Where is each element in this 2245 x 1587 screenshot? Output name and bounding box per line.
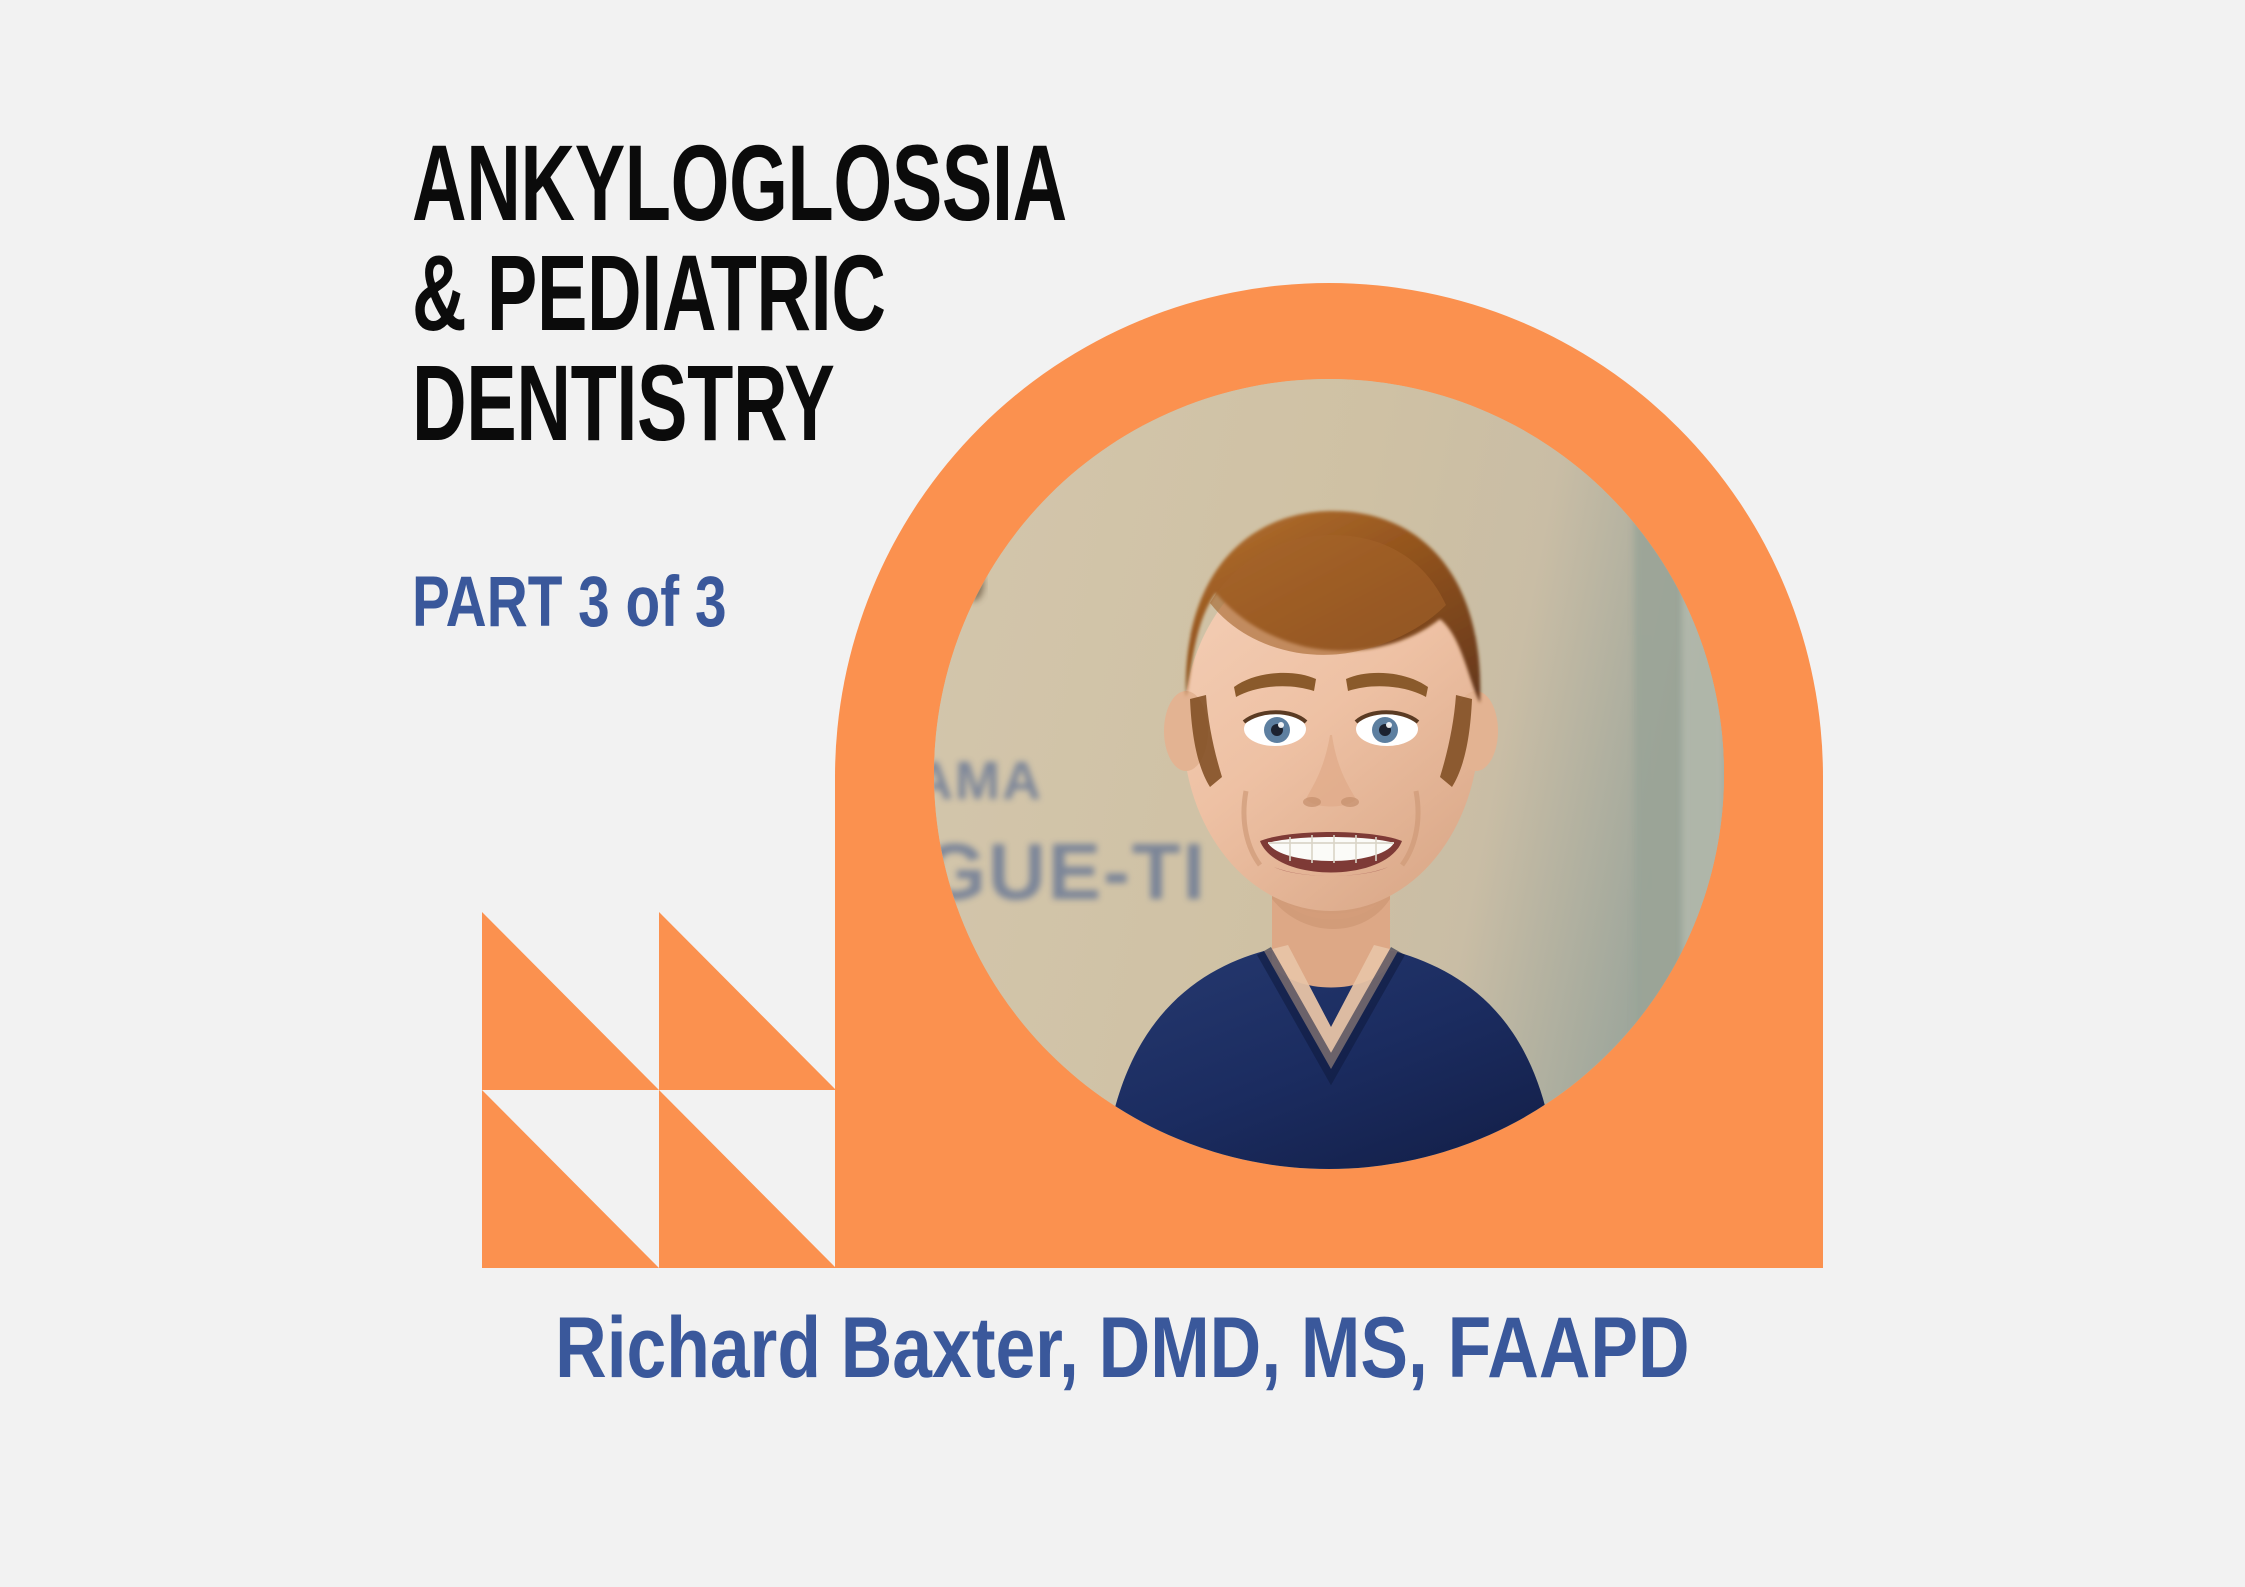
avatar: AMA NGUE-TI TR	[934, 379, 1724, 1169]
svg-text:AMA: AMA	[934, 751, 1043, 811]
triangle-cell-top-left	[482, 912, 659, 1090]
svg-text:NGUE-TI: NGUE-TI	[934, 827, 1207, 916]
portrait-arch-container: AMA NGUE-TI TR	[835, 283, 1823, 1268]
part-label: PART 3 of 3	[412, 567, 727, 638]
triangle-grid-decoration	[482, 912, 836, 1268]
presenter-name-text: Richard Baxter, DMD, MS, FAAPD	[555, 1305, 1689, 1391]
presenter-name: Richard Baxter, DMD, MS, FAAPD	[0, 1305, 2245, 1391]
triangle-cell-top-right	[659, 912, 836, 1090]
triangle-cell-bottom-left	[482, 1090, 659, 1268]
title-line-1: ANKYLOGLOSSIA	[412, 128, 986, 238]
title-slide: ANKYLOGLOSSIA & PEDIATRIC DENTISTRY PART…	[0, 0, 2245, 1587]
triangle-cell-bottom-right	[659, 1090, 836, 1268]
